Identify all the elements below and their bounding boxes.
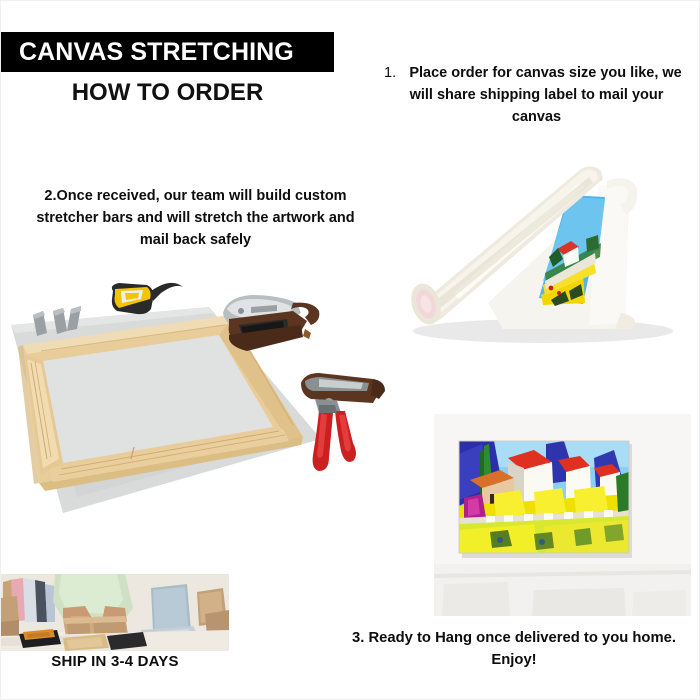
- ship-days-label: SHIP IN 3-4 DAYS: [1, 653, 229, 670]
- rolled-canvas-print-photo: [393, 153, 693, 378]
- step-2-caption: 2.Once received, our team will build cus…: [23, 186, 368, 251]
- step-1-number: 1.: [384, 63, 396, 85]
- stretcher-frame-and-tools-photo: [1, 263, 399, 541]
- packing-box-shipping-photo: [1, 574, 229, 651]
- title-banner: CANVAS STRETCHING: [1, 32, 334, 72]
- hung-canvas-on-wall-photo: [434, 414, 691, 616]
- banner-title: CANVAS STRETCHING: [1, 38, 294, 67]
- page-subtitle: HOW TO ORDER: [1, 79, 334, 107]
- step-1-caption: 1.Place order for canvas size you like, …: [384, 63, 689, 128]
- step-3-caption: 3. Ready to Hang once delivered to you h…: [331, 627, 697, 671]
- step-1-text: Place order for canvas size you like, we…: [409, 65, 681, 125]
- infographic-page: CANVAS STRETCHING HOW TO ORDER 1.Place o…: [0, 0, 700, 700]
